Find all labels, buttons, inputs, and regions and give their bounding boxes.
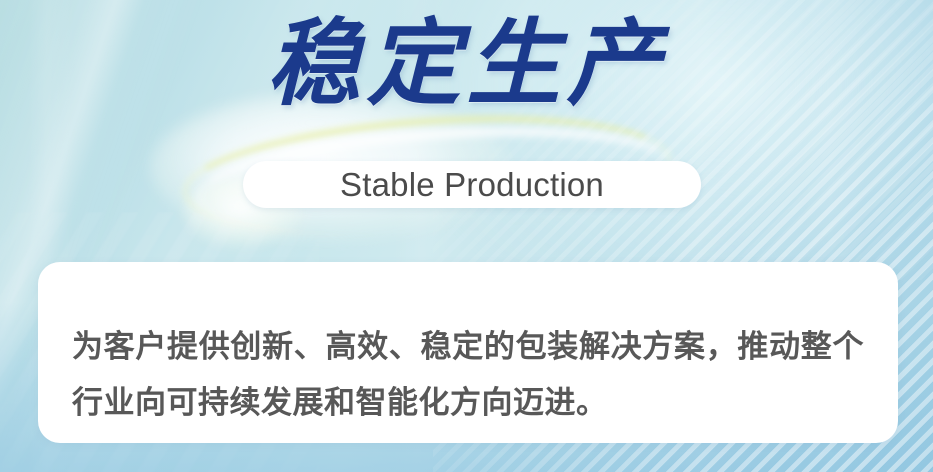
banner-headline: 稳定生产 — [0, 18, 933, 112]
description-card: 为客户提供创新、高效、稳定的包装解决方案，推动整个行业向可持续发展和智能化方向迈… — [38, 262, 898, 443]
banner-content: 稳定生产 Stable Production 为客户提供创新、高效、稳定的包装解… — [0, 0, 933, 472]
subtitle-pill: Stable Production — [243, 161, 701, 208]
subtitle-text: Stable Production — [340, 168, 604, 201]
description-text: 为客户提供创新、高效、稳定的包装解决方案，推动整个行业向可持续发展和智能化方向迈… — [72, 319, 864, 431]
stable-production-banner: 稳定生产 Stable Production 为客户提供创新、高效、稳定的包装解… — [0, 0, 933, 472]
